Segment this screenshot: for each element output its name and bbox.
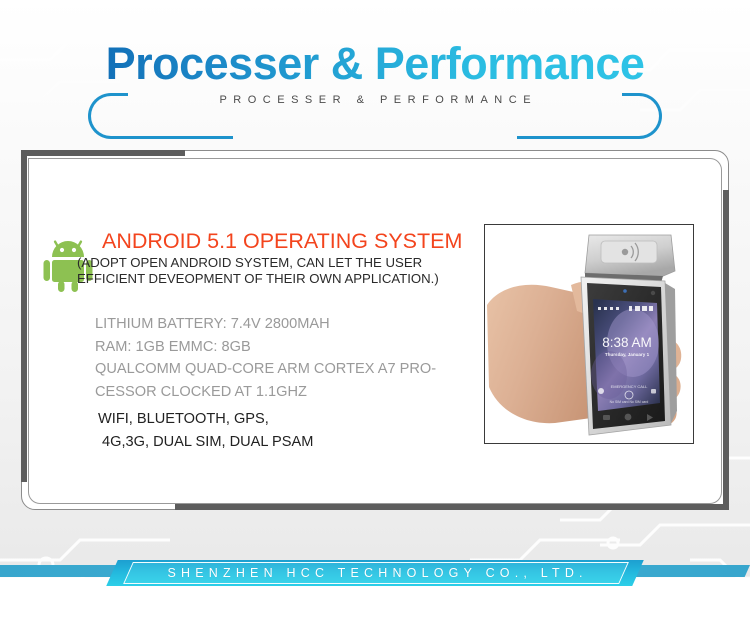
product-photo-hand-holding-pos-terminal: 8:38 AM Thursday, January 1 EMERGENCY CA… <box>485 225 693 443</box>
svg-text:8:38 AM: 8:38 AM <box>602 335 652 350</box>
card-accent-top <box>21 150 185 156</box>
connectivity-spec-list: WIFI, BLUETOOTH, GPS, 4G,3G, DUAL SIM, D… <box>98 408 498 454</box>
spec-line: QUALCOMM QUAD-CORE ARM CORTEX A7 PRO- <box>95 358 495 381</box>
card-accent-bottom <box>175 504 729 510</box>
headline-group: ANDROID 5.1 OPERATING SYSTEM (ADOPT OPEN… <box>102 228 478 287</box>
footer-company-name: SHENZHEN HCC TECHNOLOGY CO., LTD. <box>0 560 750 586</box>
card-accent-right <box>723 190 729 510</box>
svg-text:Thursday, January 1: Thursday, January 1 <box>605 352 650 357</box>
android-os-description: (ADOPT OPEN ANDROID SYSTEM, CAN LET THE … <box>77 255 477 287</box>
card-accent-left <box>21 150 27 482</box>
page-footer: SHENZHEN HCC TECHNOLOGY CO., LTD. <box>0 560 750 590</box>
connectivity-line-1: WIFI, BLUETOOTH, GPS, <box>98 408 498 431</box>
svg-text:No SIM card No SIM card: No SIM card No SIM card <box>610 400 649 404</box>
description-line-2: EFFICIENT DEVEOPMENT OF THEIR OWN APPLIC… <box>77 271 477 287</box>
android-os-headline: ANDROID 5.1 OPERATING SYSTEM <box>102 228 478 254</box>
svg-text:EMERGENCY CALL: EMERGENCY CALL <box>611 384 649 389</box>
page-subtitle: PROCESSER & PERFORMANCE <box>0 94 750 106</box>
page-header: Processer & Performance PROCESSER & PERF… <box>0 38 750 124</box>
page-title: Processer & Performance <box>106 38 645 90</box>
product-photo-frame: 8:38 AM Thursday, January 1 EMERGENCY CA… <box>484 224 694 444</box>
page-root: Processer & Performance PROCESSER & PERF… <box>0 0 750 626</box>
spec-line: RAM: 1GB EMMC: 8GB <box>95 336 495 359</box>
hardware-spec-list: LITHIUM BATTERY: 7.4V 2800MAH RAM: 1GB E… <box>95 313 495 403</box>
spec-line: LITHIUM BATTERY: 7.4V 2800MAH <box>95 313 495 336</box>
description-line-1: (ADOPT OPEN ANDROID SYSTEM, CAN LET THE … <box>77 255 477 271</box>
spec-line: CESSOR CLOCKED AT 1.1GHZ <box>95 381 495 404</box>
connectivity-line-2: 4G,3G, DUAL SIM, DUAL PSAM <box>102 431 498 454</box>
